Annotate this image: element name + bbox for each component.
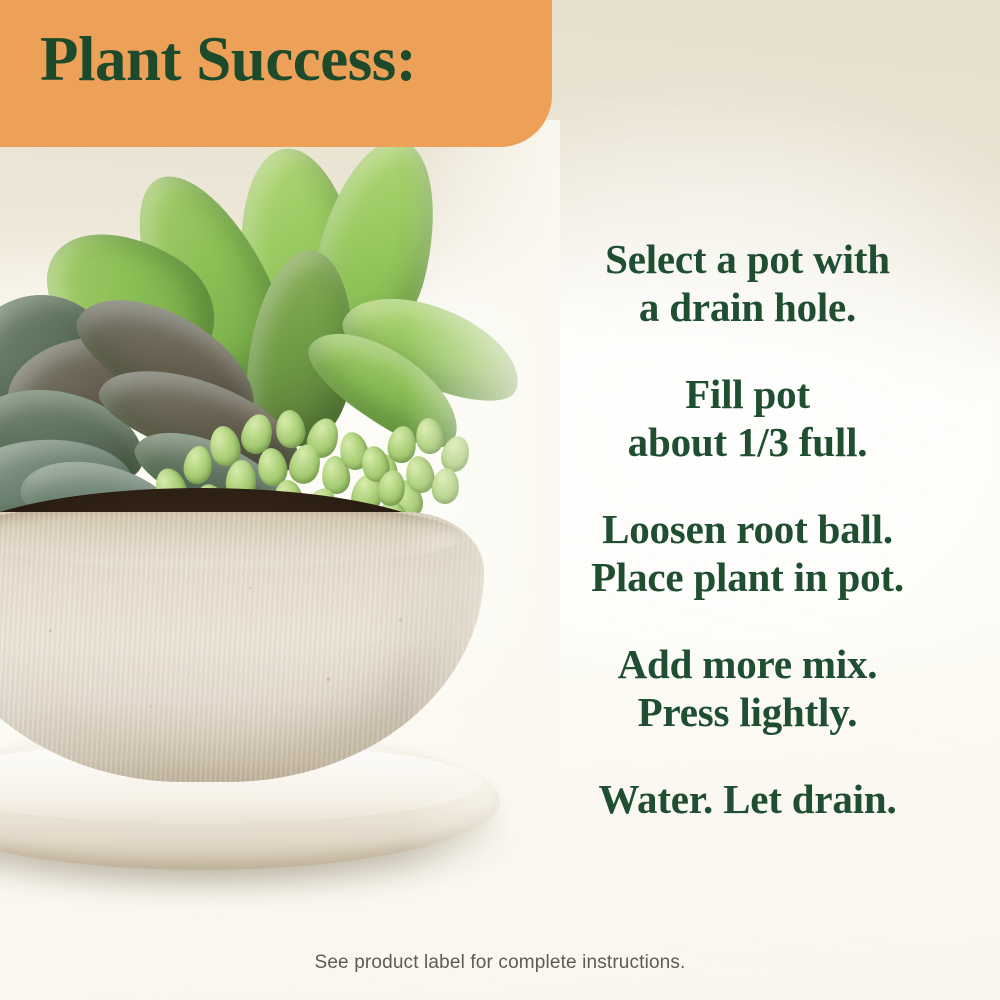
header-banner: Plant Success: [0,0,552,147]
footer: See product label for complete instructi… [0,952,1000,974]
pot-speckles [0,512,484,782]
instruction-line: Press lightly. [505,689,990,737]
instruction-step-3: Loosen root ball. Place plant in pot. [505,506,990,601]
ceramic-pot [0,512,484,782]
instruction-line: Add more mix. [505,641,990,689]
instruction-step-4: Add more mix. Press lightly. [505,641,990,736]
instruction-line: Select a pot with [505,236,990,284]
instruction-list: Select a pot with a drain hole. Fill pot… [505,236,990,824]
footer-note: See product label for complete instructi… [315,952,686,973]
sedum-cluster-secondary [358,412,478,504]
instruction-step-5: Water. Let drain. [505,776,990,824]
instruction-step-1: Select a pot with a drain hole. [505,236,990,331]
instruction-line: Fill pot [505,371,990,419]
potted-succulent-photo [0,120,520,920]
instruction-line: a drain hole. [505,284,990,332]
page-title: Plant Success: [40,26,416,92]
instruction-line: Place plant in pot. [505,554,990,602]
instruction-line: Water. Let drain. [505,776,990,824]
instruction-line: Loosen root ball. [505,506,990,554]
plant-success-infographic: Plant Success: Select a pot with a drain… [0,0,1000,1000]
instruction-line: about 1/3 full. [505,419,990,467]
instruction-step-2: Fill pot about 1/3 full. [505,371,990,466]
